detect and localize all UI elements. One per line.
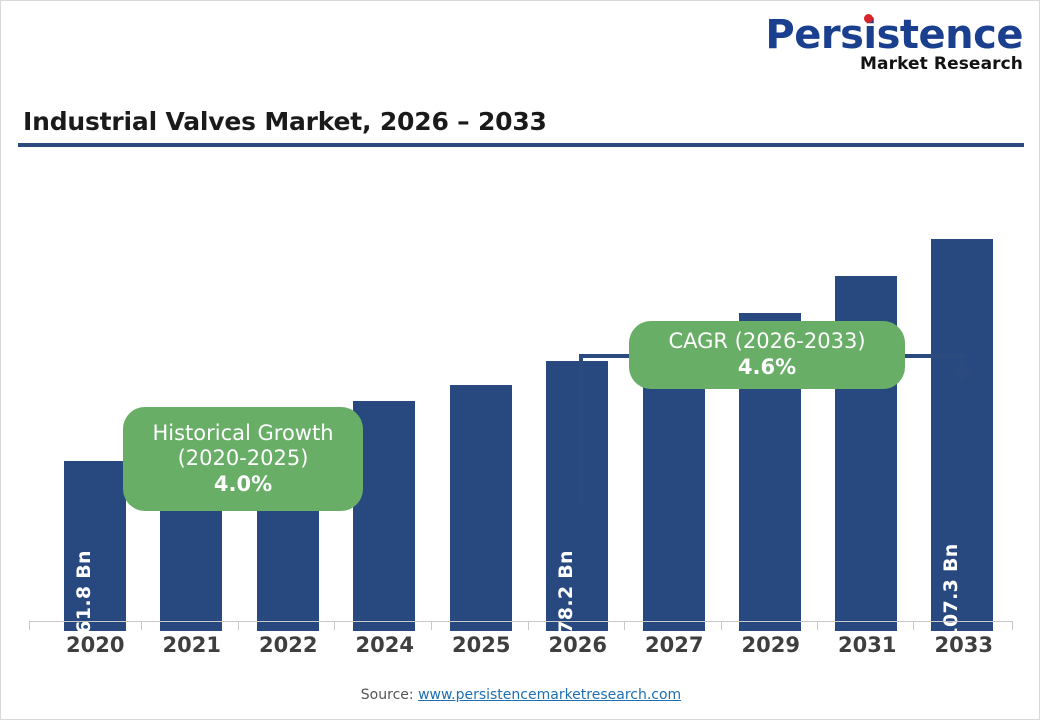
logo-tagline: Market Research (765, 56, 1023, 73)
axis-tick (29, 621, 30, 630)
axis-tick (528, 621, 529, 630)
axis-tick (721, 621, 722, 630)
title-divider (18, 143, 1024, 147)
bar-label-2033: US$ 107.3 Bn (940, 543, 962, 690)
axis-tick (431, 621, 432, 630)
x-label-2027: 2027 (626, 633, 723, 657)
axis-tick (913, 621, 914, 630)
source-line: Source: www.persistencemarketresearch.co… (1, 687, 1040, 703)
cagr-connector-vertical (579, 354, 583, 504)
bar-label-2020: US$ 61.8 Bn (73, 550, 95, 684)
x-axis-line (29, 621, 1013, 622)
x-label-2026: 2026 (530, 633, 627, 657)
historical-growth-period: (2020-2025) (178, 446, 309, 472)
axis-tick (334, 621, 335, 630)
x-label-2029: 2029 (723, 633, 820, 657)
x-label-2033: 2033 (916, 633, 1013, 657)
cagr-arrow-icon (952, 369, 972, 383)
x-label-2025: 2025 (433, 633, 530, 657)
logo-wordmark-text: Persistence (765, 12, 1023, 58)
bar-2020[interactable]: US$ 61.8 Bn (64, 461, 126, 631)
x-label-2021: 2021 (144, 633, 241, 657)
bar-chart-plot: US$ 61.8 Bn US$ 78.2 Bn US$ 107.3 Bn His… (1, 151, 1040, 631)
chart-page: Persistence Market Research Industrial V… (0, 0, 1040, 720)
historical-growth-badge: Historical Growth (2020-2025) 4.0% (123, 407, 363, 511)
x-label-2031: 2031 (819, 633, 916, 657)
bar-2026[interactable]: US$ 78.2 Bn (546, 361, 608, 631)
brand-logo: Persistence Market Research (765, 15, 1023, 73)
x-label-2022: 2022 (240, 633, 337, 657)
axis-tick (624, 621, 625, 630)
bar-2033[interactable]: US$ 107.3 Bn (931, 239, 993, 631)
page-title: Industrial Valves Market, 2026 – 2033 (23, 107, 547, 136)
x-axis-labels: 2020 2021 2022 2024 2025 2026 2027 2029 … (1, 633, 1040, 657)
cagr-badge: CAGR (2026-2033) 4.6% (629, 321, 905, 389)
axis-tick (817, 621, 818, 630)
historical-growth-value: 4.0% (214, 472, 272, 498)
axis-tick (238, 621, 239, 630)
axis-tick (141, 621, 142, 630)
source-prefix: Source: (361, 687, 418, 703)
x-label-2024: 2024 (337, 633, 434, 657)
axis-tick (1012, 621, 1013, 630)
cagr-title: CAGR (2026-2033) (668, 329, 865, 355)
logo-wordmark: Persistence (765, 15, 1023, 55)
x-label-2020: 2020 (47, 633, 144, 657)
bar-label-2026: US$ 78.2 Bn (555, 550, 577, 684)
source-link[interactable]: www.persistencemarketresearch.com (418, 687, 681, 703)
historical-growth-title: Historical Growth (152, 421, 333, 447)
cagr-value: 4.6% (738, 355, 796, 381)
bar-2025[interactable] (450, 385, 512, 631)
